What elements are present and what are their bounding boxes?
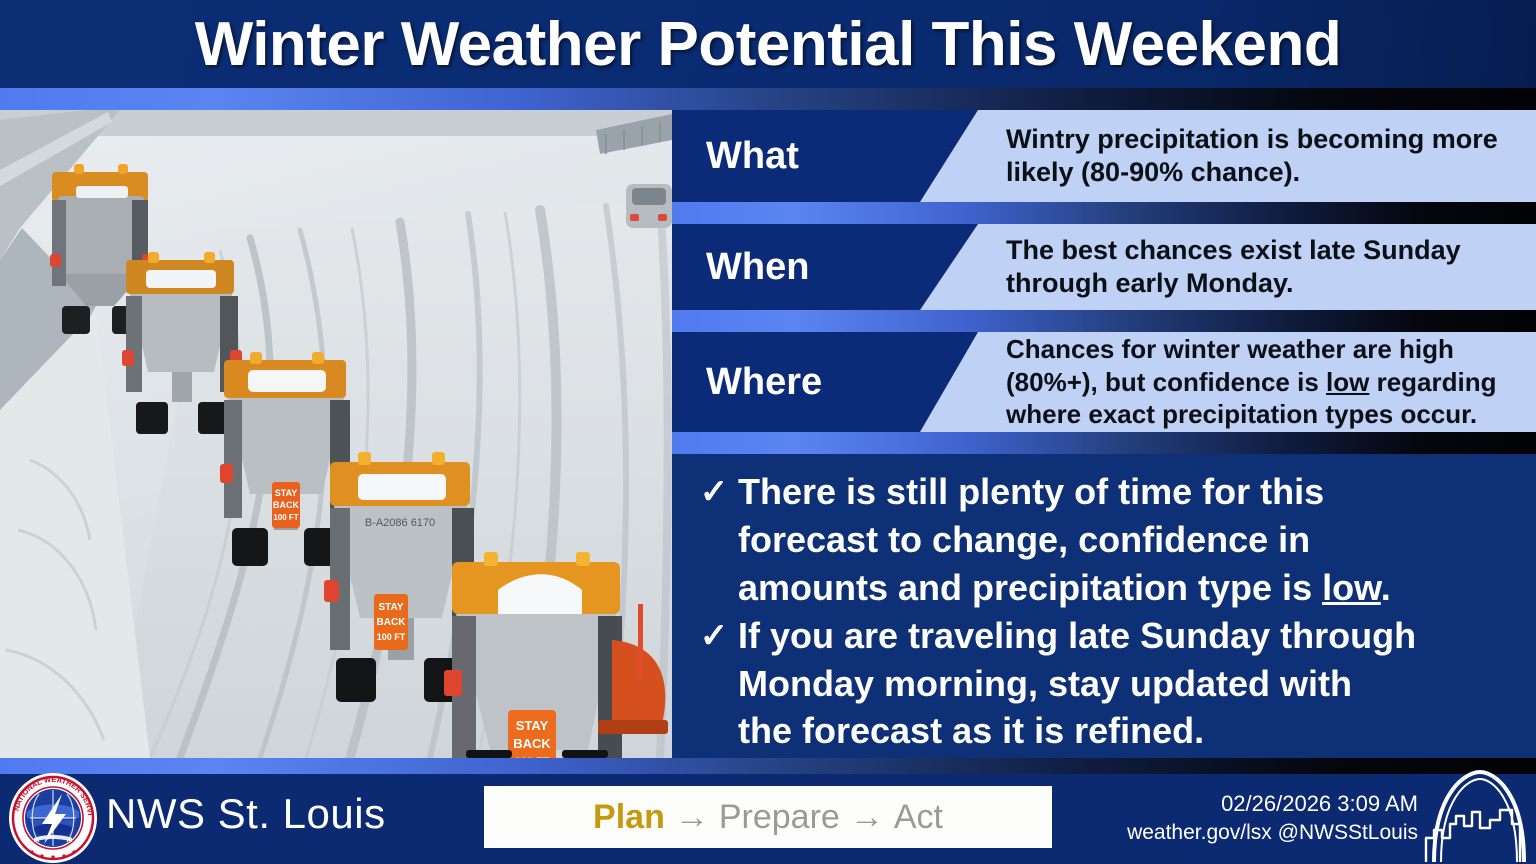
office-name: NWS St. Louis (106, 790, 386, 838)
svg-text:STAY: STAY (378, 602, 403, 613)
title-divider-band (0, 88, 1536, 110)
key-point-1-line-2: forecast to change, confidence in (738, 519, 1310, 560)
info-row-when-line-1: The best chances exist late Sunday (1006, 234, 1520, 267)
prepare-label: Prepare (719, 798, 840, 837)
key-point-2-line-1: If you are traveling late Sunday through (738, 615, 1416, 656)
issuance-info: 02/26/2026 3:09 AM weather.gov/lsx @NWSS… (1127, 790, 1418, 847)
act-label: Act (894, 798, 943, 837)
info-row-when-body: The best chances exist late Sunday throu… (920, 224, 1536, 310)
footer-divider-band (0, 758, 1536, 774)
info-row-when-label: When (672, 224, 920, 310)
info-row-where-line-2: (80%+), but confidence is low regarding (1006, 366, 1520, 399)
key-point-1-line-1: There is still plenty of time for this (738, 471, 1324, 512)
key-point-text: There is still plenty of time for this f… (738, 468, 1526, 612)
car (626, 184, 672, 228)
contact-info: weather.gov/lsx @NWSStLouis (1127, 819, 1418, 847)
info-row-where: Where Chances for winter weather are hig… (672, 332, 1536, 432)
key-point-item: ✓ There is still plenty of time for this… (690, 468, 1526, 612)
timestamp: 02/26/2026 3:09 AM (1127, 790, 1418, 819)
st-louis-skyline-icon (1420, 766, 1528, 862)
arrow-1-icon: → (675, 798, 709, 837)
title-bar: Winter Weather Potential This Weekend (0, 0, 1536, 88)
row-divider-band-2 (672, 310, 1536, 332)
weather-graphic: Winter Weather Potential This Weekend (0, 0, 1536, 864)
svg-text:STAY: STAY (275, 488, 298, 498)
check-icon: ✓ (690, 468, 738, 516)
svg-text:BACK: BACK (273, 500, 299, 510)
info-row-what-line-2: likely (80-90% chance). (1006, 156, 1520, 189)
svg-text:STAY: STAY (516, 718, 549, 733)
info-row-when: When The best chances exist late Sunday … (672, 224, 1536, 310)
info-row-where-line-1: Chances for winter weather are high (1006, 333, 1520, 366)
svg-text:100 FT: 100 FT (273, 513, 298, 522)
plan-label: Plan (593, 798, 665, 837)
key-point-2-line-2: Monday morning, stay updated with (738, 663, 1352, 704)
row-divider-band-3 (672, 432, 1536, 454)
key-point-text: If you are traveling late Sunday through… (738, 612, 1526, 756)
page-title: Winter Weather Potential This Weekend (0, 0, 1536, 88)
info-row-when-line-2: through early Monday. (1006, 267, 1520, 300)
key-point-2-line-3: the forecast as it is refined. (738, 710, 1204, 751)
info-row-where-line-3: where exact precipitation types occur. (1006, 398, 1520, 431)
row-divider-band-1 (672, 202, 1536, 224)
check-icon: ✓ (690, 612, 738, 660)
info-row-what-label: What (672, 110, 920, 202)
svg-text:B-A2086 6170: B-A2086 6170 (365, 517, 435, 529)
snowplow-photo: STAY BACK 100 FT STAY BACK (0, 110, 672, 758)
plan-prepare-act-banner: Plan → Prepare → Act (484, 786, 1052, 848)
info-row-where-body: Chances for winter weather are high (80%… (920, 332, 1536, 432)
svg-text:BACK: BACK (513, 736, 551, 751)
nws-seal-icon: NATIONAL WEATHER SERVICE (6, 772, 100, 864)
gateway-arch-icon (1420, 766, 1528, 862)
info-row-where-label: Where (672, 332, 920, 432)
svg-text:100 FT: 100 FT (377, 632, 406, 642)
key-point-item: ✓ If you are traveling late Sunday throu… (690, 612, 1526, 756)
snowplow-illustration: STAY BACK 100 FT STAY BACK (0, 110, 672, 758)
info-row-what-line-1: Wintry precipitation is becoming more (1006, 123, 1520, 156)
arrow-2-icon: → (850, 798, 884, 837)
info-row-what-body: Wintry precipitation is becoming more li… (920, 110, 1536, 202)
key-point-1-line-3: amounts and precipitation type is low. (738, 567, 1391, 608)
key-points-panel: ✓ There is still plenty of time for this… (672, 454, 1536, 758)
svg-text:BACK: BACK (377, 617, 407, 628)
info-row-what: What Wintry precipitation is becoming mo… (672, 110, 1536, 202)
nws-logo: NATIONAL WEATHER SERVICE (6, 772, 100, 864)
